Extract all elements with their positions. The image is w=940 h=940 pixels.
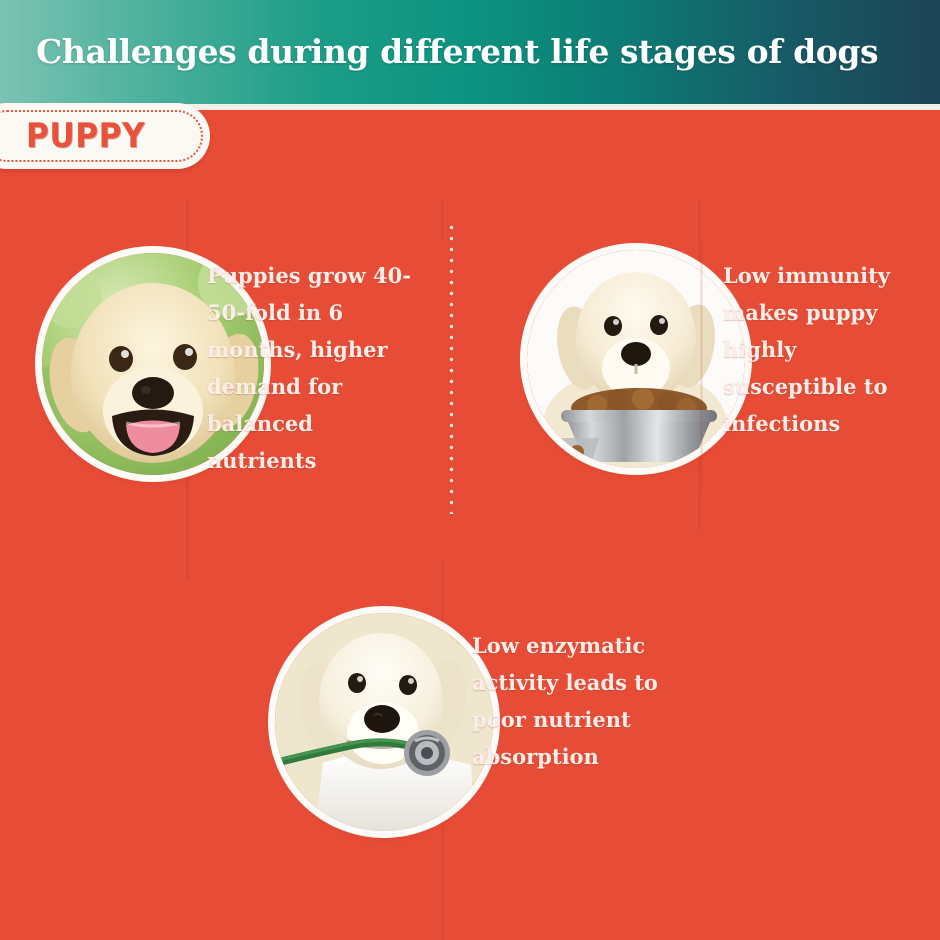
- infographic-canvas: Challenges during different life stages …: [0, 0, 940, 940]
- badge-label: PUPPY: [26, 103, 182, 169]
- puppy-stethoscope-photo-inner: [275, 613, 493, 831]
- panel-text-immunity: Low immunity makes puppy highly suscepti…: [723, 257, 928, 442]
- panel-text-growth: Puppies grow 40-50-fold in 6 months, hig…: [207, 257, 422, 479]
- panel-seam-photo2-edge: [700, 240, 703, 490]
- puppy-with-food-bowl-photo: [527, 250, 745, 468]
- content-background: [0, 110, 940, 940]
- puppy-bowl-photo-inner: [527, 250, 745, 468]
- puppy-bowl-illustration: [527, 250, 745, 468]
- dotted-vertical-divider: [449, 222, 454, 514]
- stage-badge-puppy: PUPPY: [0, 103, 210, 169]
- panel-text-enzymes: Low enzymatic activity leads to poor nut…: [472, 627, 687, 775]
- puppy-with-stethoscope-photo: [275, 613, 493, 831]
- page-title: Challenges during different life stages …: [36, 30, 916, 74]
- header-banner: Challenges during different life stages …: [0, 0, 940, 104]
- puppy-stethoscope-illustration: [275, 613, 493, 831]
- panel-seam-top-center: [441, 200, 444, 240]
